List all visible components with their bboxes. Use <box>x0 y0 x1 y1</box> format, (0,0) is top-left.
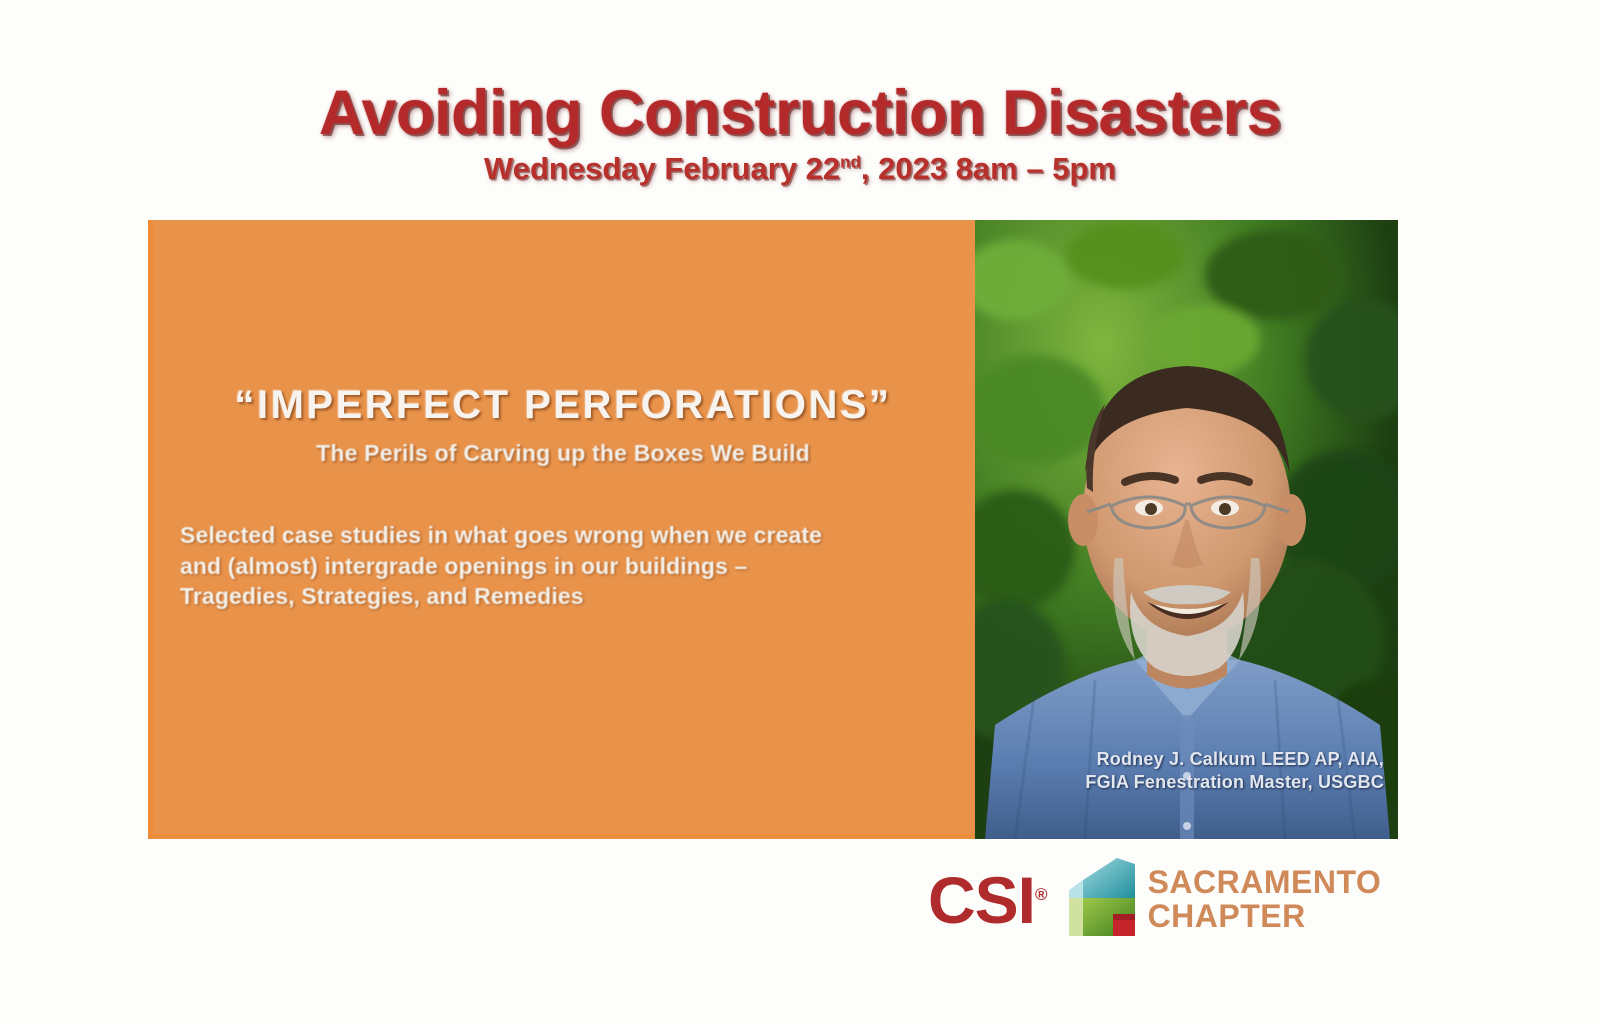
speaker-credit: Rodney J. Calkum LEED AP, AIA, FGIA Fene… <box>1085 748 1384 793</box>
description-line-1: Selected case studies in what goes wrong… <box>180 520 940 551</box>
event-date-line: Wednesday February 22nd, 2023 8am – 5pm <box>0 151 1600 187</box>
csi-wordmark-text: CSI <box>928 863 1035 937</box>
content-band: “IMPERFECT PERFORATIONS” The Perils of C… <box>148 220 1398 839</box>
presentation-panel: “IMPERFECT PERFORATIONS” The Perils of C… <box>148 220 975 839</box>
csi-prism-icon <box>1057 858 1135 942</box>
event-date-prefix: Wednesday February 22 <box>484 151 840 186</box>
speaker-name: Rodney J. Calkum LEED AP, AIA, <box>1085 748 1384 771</box>
page-title: Avoiding Construction Disasters <box>0 82 1600 145</box>
registered-trademark-icon: ® <box>1035 885 1047 904</box>
speaker-credentials: FGIA Fenestration Master, USGBC <box>1085 771 1384 794</box>
slide-canvas: Avoiding Construction Disasters Wednesda… <box>0 0 1600 1024</box>
presentation-subtitle: The Perils of Carving up the Boxes We Bu… <box>158 440 968 467</box>
event-date-suffix: , 2023 8am – 5pm <box>861 151 1116 186</box>
title-block: Avoiding Construction Disasters Wednesda… <box>0 82 1600 187</box>
description-line-3: Tragedies, Strategies, and Remedies <box>180 581 940 612</box>
csi-wordmark: CSI® <box>928 867 1047 933</box>
event-date-ordinal: nd <box>840 153 861 172</box>
chapter-line-1: SACRAMENTO <box>1148 866 1382 900</box>
description-line-2: and (almost) intergrade openings in our … <box>180 551 940 582</box>
chapter-line-2: CHAPTER <box>1148 900 1382 934</box>
presentation-description: Selected case studies in what goes wrong… <box>180 520 940 612</box>
speaker-portrait-photo: Rodney J. Calkum LEED AP, AIA, FGIA Fene… <box>975 220 1398 839</box>
presentation-title: “IMPERFECT PERFORATIONS” <box>158 383 968 428</box>
chapter-name: SACRAMENTO CHAPTER <box>1148 866 1382 934</box>
csi-sacramento-logo: CSI® <box>928 855 1381 945</box>
